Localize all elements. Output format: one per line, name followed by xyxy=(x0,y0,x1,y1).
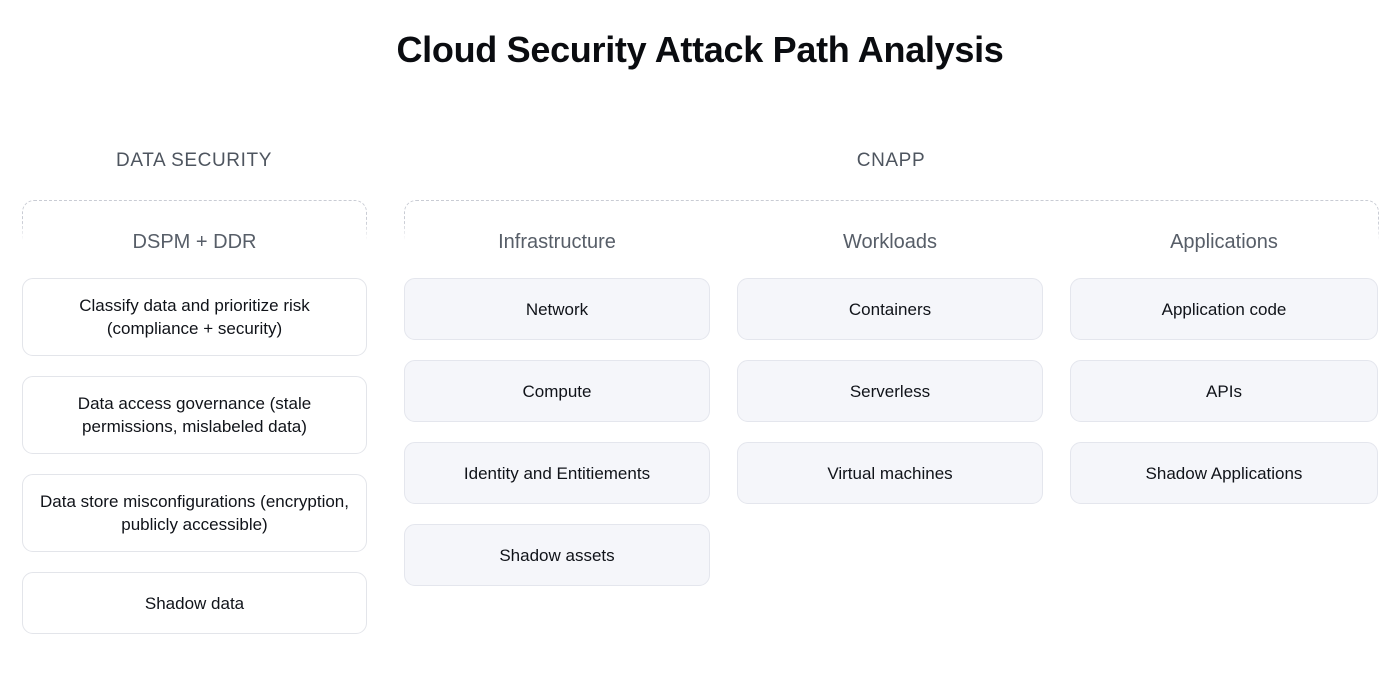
column-title-dspm-ddr: DSPM + DDR xyxy=(22,228,367,256)
card-workloads-1[interactable]: Serverless xyxy=(737,360,1043,422)
card-label: APIs xyxy=(1206,380,1242,403)
card-label: Shadow data xyxy=(145,592,244,615)
card-applications-2[interactable]: Shadow Applications xyxy=(1070,442,1378,504)
card-workloads-0[interactable]: Containers xyxy=(737,278,1043,340)
card-applications-0[interactable]: Application code xyxy=(1070,278,1378,340)
card-infrastructure-2[interactable]: Identity and Entitiements xyxy=(404,442,710,504)
diagram-canvas: Cloud Security Attack Path Analysis DATA… xyxy=(0,0,1400,700)
column-title-infrastructure: Infrastructure xyxy=(404,228,710,256)
column-applications: Application codeAPIsShadow Applications xyxy=(1070,278,1378,504)
card-dspm-ddr-3[interactable]: Shadow data xyxy=(22,572,367,634)
card-label: Compute xyxy=(523,380,592,403)
card-dspm-ddr-1[interactable]: Data access governance (stale permission… xyxy=(22,376,367,454)
group-header-cnapp: CNAPP xyxy=(404,148,1378,174)
column-title-workloads: Workloads xyxy=(737,228,1043,256)
card-infrastructure-3[interactable]: Shadow assets xyxy=(404,524,710,586)
card-label: Identity and Entitiements xyxy=(464,462,650,485)
group-header-data-security: DATA SECURITY xyxy=(22,148,366,174)
card-label: Shadow Applications xyxy=(1146,462,1303,485)
card-label: Network xyxy=(526,298,588,321)
card-label: Data access governance (stale permission… xyxy=(37,392,352,438)
card-workloads-2[interactable]: Virtual machines xyxy=(737,442,1043,504)
card-dspm-ddr-2[interactable]: Data store misconfigurations (encryption… xyxy=(22,474,367,552)
card-label: Data store misconfigurations (encryption… xyxy=(37,490,352,536)
card-label: Virtual machines xyxy=(827,462,952,485)
card-label: Serverless xyxy=(850,380,930,403)
column-workloads: ContainersServerlessVirtual machines xyxy=(737,278,1043,504)
page-title: Cloud Security Attack Path Analysis xyxy=(0,26,1400,74)
card-label: Shadow assets xyxy=(499,544,614,567)
card-label: Classify data and prioritize risk (compl… xyxy=(37,294,352,340)
column-infrastructure: NetworkComputeIdentity and EntitiementsS… xyxy=(404,278,710,586)
card-applications-1[interactable]: APIs xyxy=(1070,360,1378,422)
column-dspm-ddr: Classify data and prioritize risk (compl… xyxy=(22,278,367,634)
card-dspm-ddr-0[interactable]: Classify data and prioritize risk (compl… xyxy=(22,278,367,356)
card-label: Application code xyxy=(1162,298,1287,321)
column-title-applications: Applications xyxy=(1070,228,1378,256)
card-infrastructure-1[interactable]: Compute xyxy=(404,360,710,422)
card-infrastructure-0[interactable]: Network xyxy=(404,278,710,340)
card-label: Containers xyxy=(849,298,931,321)
